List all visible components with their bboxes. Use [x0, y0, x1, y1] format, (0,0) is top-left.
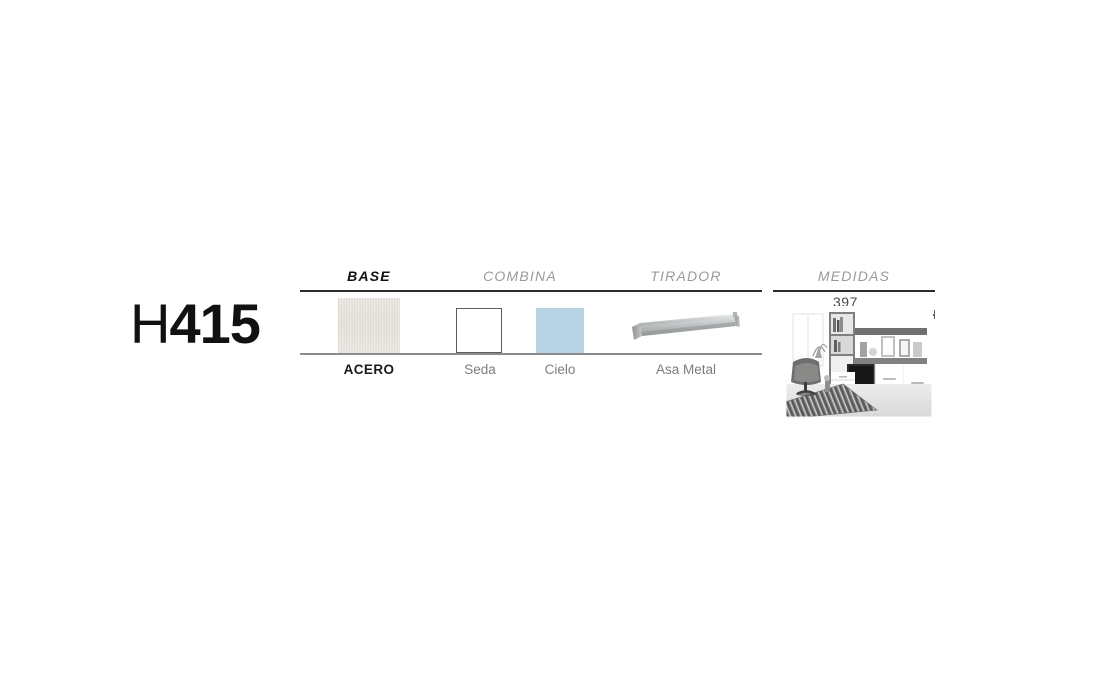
product-code-prefix: H [130, 292, 169, 355]
swatch-asa-metal-handle[interactable] [630, 310, 742, 346]
swatch-label-asa-metal: Asa Metal [656, 362, 716, 377]
table-header-divider [300, 290, 762, 292]
product-code-number: 415 [169, 292, 259, 355]
medidas-section: MEDIDAS 397 [773, 268, 935, 423]
column-header-combina: COMBINA [483, 268, 557, 284]
swatch-cielo[interactable] [536, 308, 584, 353]
swatch-seda[interactable] [456, 308, 502, 353]
column-header-medidas: MEDIDAS [773, 268, 935, 284]
table-footer-divider [300, 353, 762, 355]
column-header-tirador: TIRADOR [650, 268, 721, 284]
spec-table: BASE COMBINA TIRADOR [300, 268, 762, 386]
swatch-label-seda: Seda [464, 362, 496, 377]
swatch-acero[interactable] [338, 298, 400, 353]
room-setting-photo [785, 306, 933, 418]
column-header-base: BASE [347, 268, 391, 284]
product-code: H415 [130, 296, 260, 352]
swatch-label-cielo: Cielo [545, 362, 576, 377]
medidas-header-divider [773, 290, 935, 292]
swatch-label-acero: ACERO [344, 362, 395, 377]
